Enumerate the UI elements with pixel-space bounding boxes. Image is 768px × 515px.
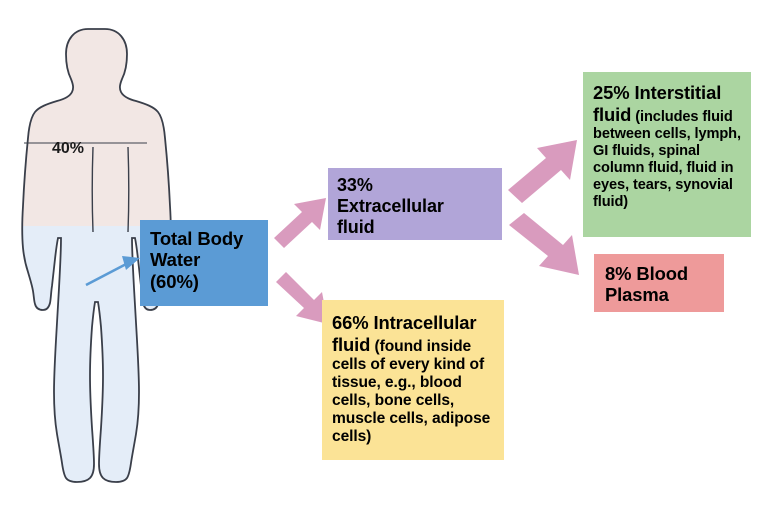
node-blood-plasma-line-2: Plasma bbox=[605, 284, 724, 305]
body-percent-label: 40% bbox=[52, 140, 84, 158]
node-interstitial-fluid[interactable]: 25% Interstitial fluid (includes fluid b… bbox=[583, 72, 751, 237]
node-total-body-water[interactable]: Total Body Water (60%) bbox=[140, 220, 268, 306]
body-pointer-arrow bbox=[86, 256, 140, 285]
node-extracellular-line-3: fluid bbox=[337, 217, 502, 238]
body-upper-fill bbox=[0, 0, 250, 226]
node-extracellular-line-2: Extracellular bbox=[337, 196, 502, 217]
arrow-tbw-to-extracellular bbox=[274, 198, 326, 248]
left-arm-inner-line bbox=[92, 147, 93, 232]
arrow-extracellular-to-plasma bbox=[509, 213, 579, 275]
node-blood-plasma-line-1: 8% Blood bbox=[605, 263, 724, 284]
arrow-extracellular-to-interstitial bbox=[508, 140, 577, 203]
diagram-canvas: 40% Total Body Water (60%) 33% Extracell… bbox=[0, 0, 768, 515]
node-blood-plasma[interactable]: 8% Blood Plasma bbox=[594, 254, 724, 312]
node-intracellular-fluid[interactable]: 66% Intracellular fluid (found inside ce… bbox=[322, 300, 504, 460]
node-total-body-water-line-1: Total Body bbox=[150, 228, 268, 249]
arrow-tbw-to-intracellular bbox=[276, 272, 328, 324]
node-extracellular-line-1: 33% bbox=[337, 175, 502, 196]
node-total-body-water-line-3: (60%) bbox=[150, 271, 268, 292]
node-total-body-water-line-2: Water bbox=[150, 249, 268, 270]
right-arm-inner-line bbox=[128, 147, 129, 232]
node-extracellular-fluid[interactable]: 33% Extracellular fluid bbox=[328, 168, 502, 240]
